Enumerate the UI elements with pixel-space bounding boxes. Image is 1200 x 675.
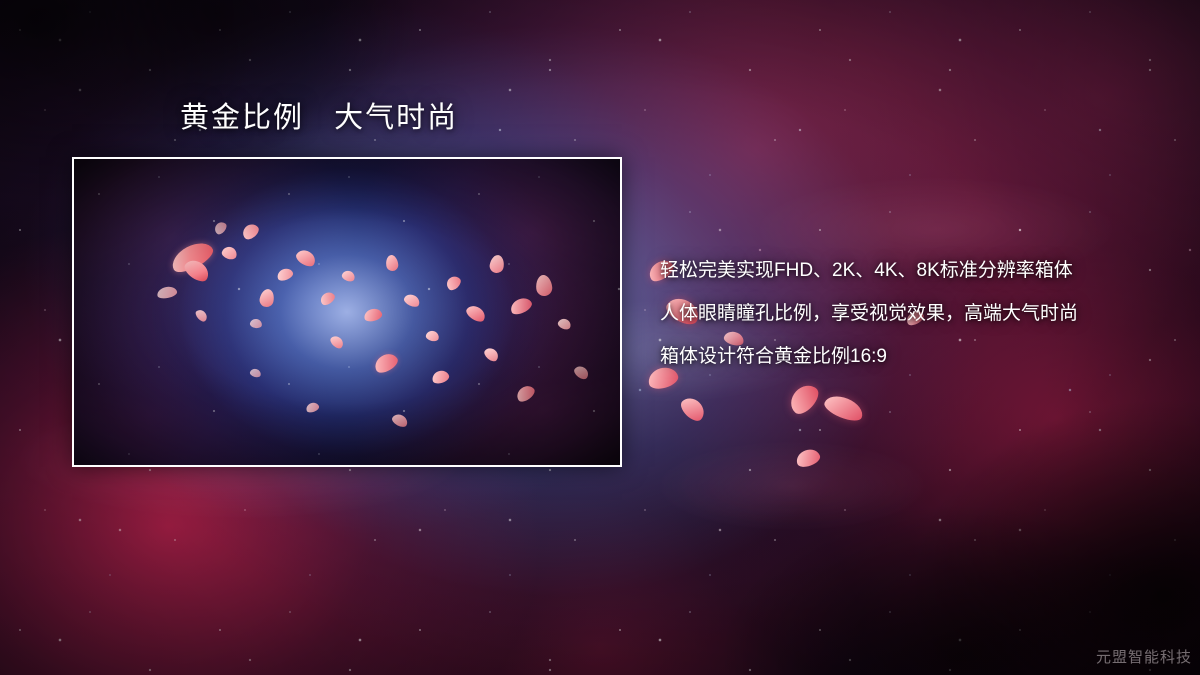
presentation-slide: 黄金比例 大气时尚 xyxy=(0,0,1200,675)
body-line-3: 箱体设计符合黄金比例16:9 xyxy=(660,335,1180,378)
body-line-2: 人体眼睛瞳孔比例，享受视觉效果，高端大气时尚 xyxy=(660,292,1180,335)
photo-vignette xyxy=(74,159,620,465)
body-line-1: 轻松完美实现FHD、2K、4K、8K标准分辨率箱体 xyxy=(660,249,1180,292)
watermark-text: 元盟智能科技 xyxy=(1096,646,1192,667)
petal xyxy=(822,391,867,425)
body-text-block: 轻松完美实现FHD、2K、4K、8K标准分辨率箱体 人体眼睛瞳孔比例，享受视觉效… xyxy=(660,249,1180,378)
slide-title: 黄金比例 大气时尚 xyxy=(180,99,458,137)
petal xyxy=(785,380,823,419)
petal xyxy=(677,393,708,424)
framed-photo xyxy=(72,157,622,467)
petal xyxy=(794,446,822,469)
photo-image-petals-nebula xyxy=(74,159,620,465)
